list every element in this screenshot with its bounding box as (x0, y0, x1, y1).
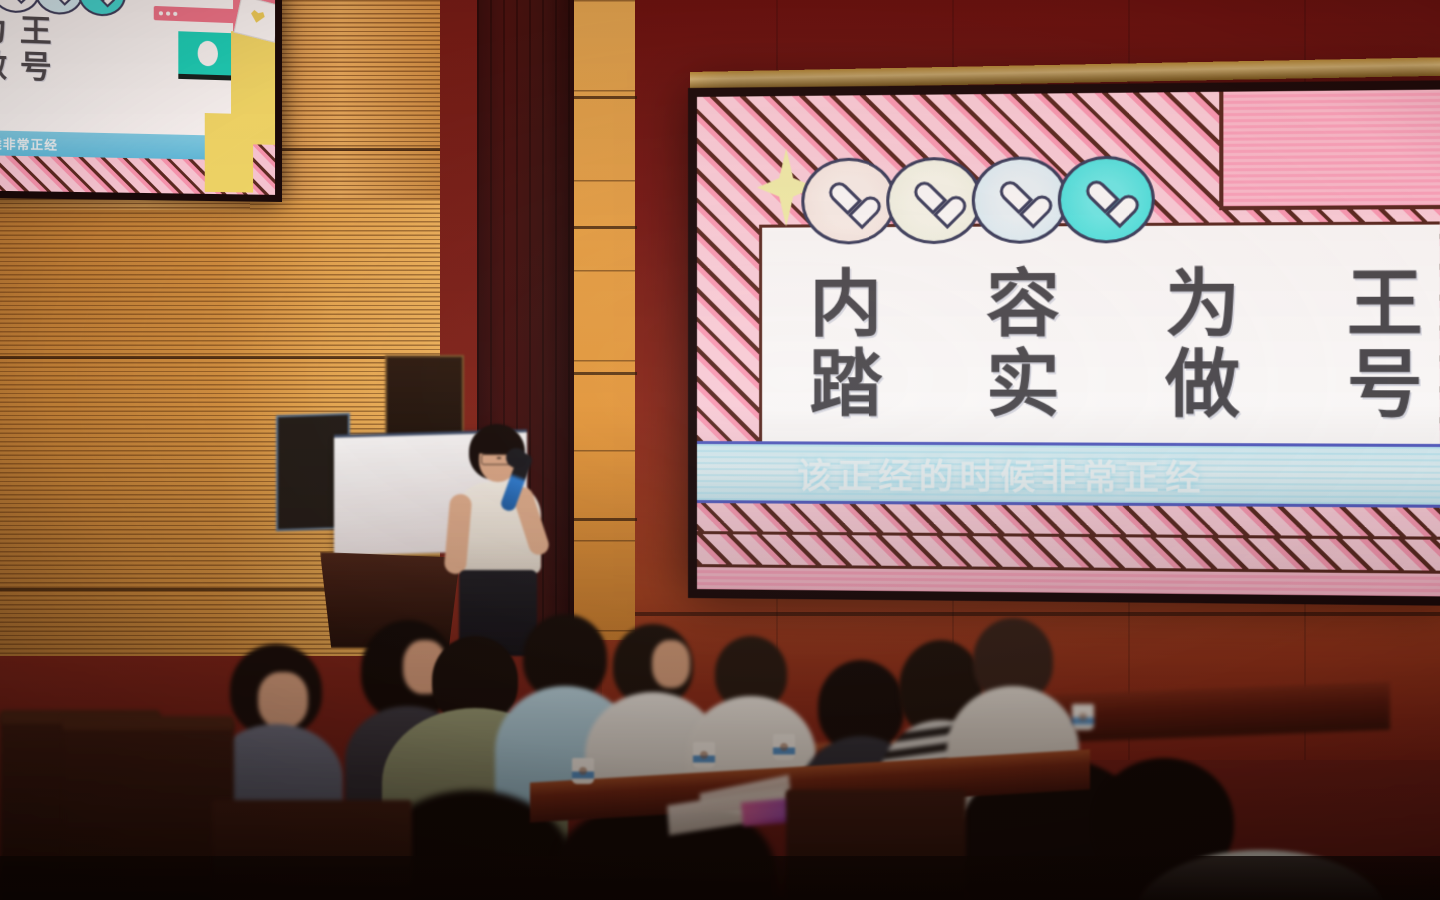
mini-slide-subtitle-text: 时候非常正经 (0, 134, 58, 153)
main-led-screen[interactable]: 内 容 为 王 踏 实 做 号 该正经的时候非常正经 (688, 80, 1440, 606)
mini-slide-headline: 容为王 实做号 (0, 10, 64, 88)
slide-headline: 内 容 为 王 踏 实 做 号 (809, 267, 1422, 424)
headline-char: 实 (986, 349, 1060, 424)
heart-icon-1 (801, 157, 896, 244)
slide-headline-line-2: 踏 实 做 号 (809, 348, 1422, 424)
paper-cup (1072, 704, 1094, 730)
chair-armrest (62, 716, 234, 730)
heart-icon-3 (972, 156, 1068, 244)
mini-headline-char: 为 (0, 12, 20, 48)
headline-char: 踏 (809, 348, 882, 422)
headline-char: 为 (1165, 267, 1240, 342)
heart-icon-2 (886, 157, 982, 244)
mini-slide-subtitle-band: 时候非常正经 (0, 130, 223, 160)
side-led-monitor[interactable]: 容为王 实做号 时候非常正经 (0, 0, 282, 202)
attendee-patterned-blouse (216, 644, 336, 814)
mini-heart-icon-4 (78, 0, 126, 17)
paper-cup (773, 734, 795, 760)
mini-headline-char: 号 (20, 51, 64, 86)
slide-headline-line-1: 内 容 为 王 (809, 267, 1422, 343)
slide-subtitle-text: 该正经的时候非常正经 (697, 448, 1207, 500)
wall-seam (0, 356, 440, 359)
mini-headline-char: 王 (20, 14, 64, 50)
headline-char: 容 (986, 268, 1060, 343)
slide-content: 内 容 为 王 踏 实 做 号 该正经的时候非常正经 (697, 89, 1440, 596)
mini-headline-line-2: 实做号 (0, 47, 64, 88)
slide-subtitle-band: 该正经的时候非常正经 (697, 441, 1440, 508)
mini-headline-char: 做 (0, 49, 20, 85)
wall-seam (565, 372, 637, 375)
mini-headline-line-1: 容为王 (0, 10, 64, 52)
slide-pink-block-topright (1219, 89, 1440, 210)
wall-seam (565, 226, 637, 229)
attendee-face (258, 672, 308, 728)
wall-seam (565, 518, 637, 521)
heart-icon-4 (1058, 156, 1155, 244)
foreground-shadow (0, 856, 1440, 900)
conference-hall-photo: 内 容 为 王 踏 实 做 号 该正经的时候非常正经 (0, 0, 1440, 900)
video-thumbnail-icon (178, 31, 237, 80)
attendee-face (652, 640, 690, 688)
headline-char: 王 (1347, 267, 1423, 343)
paper-cup (572, 758, 594, 784)
headline-char: 号 (1347, 349, 1423, 425)
paper-cup (693, 742, 715, 768)
document-sheet-icon (205, 113, 253, 193)
headline-char: 内 (809, 268, 882, 342)
headline-char: 做 (1165, 349, 1240, 424)
heart-rating-group (801, 156, 1144, 245)
wall-seam (565, 96, 637, 99)
